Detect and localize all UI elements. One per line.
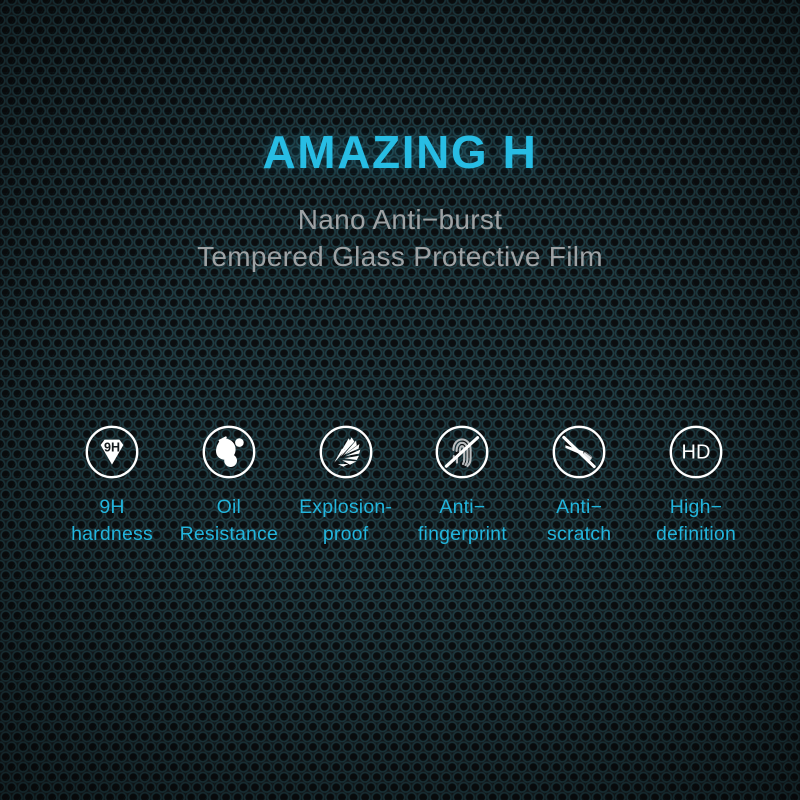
subtitle-line-1: Nano Anti−burst: [0, 202, 800, 239]
svg-text:HD: HD: [682, 442, 711, 464]
feature-label-anti-scratch: Anti− scratch: [547, 494, 611, 548]
feature-item-anti-scratch: Anti− scratch: [523, 424, 635, 548]
hd-icon: HD: [668, 424, 724, 480]
feature-label-oil-resistance: Oil Resistance: [180, 494, 278, 548]
feature-item-9h-hardness: 9H 9H hardness: [56, 424, 168, 548]
promo-banner: AMAZING H Nano Anti−burst Tempered Glass…: [0, 0, 800, 800]
oil-droplets-icon: [201, 424, 257, 480]
knife-blocked-icon: [551, 424, 607, 480]
banner-content: AMAZING H Nano Anti−burst Tempered Glass…: [0, 0, 800, 800]
headline-block: AMAZING H Nano Anti−burst Tempered Glass…: [0, 128, 800, 276]
svg-text:9H: 9H: [104, 440, 120, 454]
feature-item-high-definition: HD High− definition: [640, 424, 752, 548]
feature-label-high-definition: High− definition: [656, 494, 736, 548]
subtitle-line-2: Tempered Glass Protective Film: [0, 239, 800, 276]
9h-diamond-icon: 9H: [84, 424, 140, 480]
feature-label-anti-fingerprint: Anti− fingerprint: [418, 494, 507, 548]
feature-label-explosion-proof: Explosion- proof: [299, 494, 392, 548]
fingerprint-blocked-icon: [434, 424, 490, 480]
page-title: AMAZING H: [0, 128, 800, 176]
feature-list: 9H 9H hardness Oil Resistance: [56, 424, 752, 548]
feature-label-9h-hardness: 9H hardness: [71, 494, 153, 548]
feature-item-oil-resistance: Oil Resistance: [173, 424, 285, 548]
feature-item-anti-fingerprint: Anti− fingerprint: [406, 424, 518, 548]
subtitle: Nano Anti−burst Tempered Glass Protectiv…: [0, 202, 800, 276]
shattering-glass-icon: [318, 424, 374, 480]
feature-item-explosion-proof: Explosion- proof: [290, 424, 402, 548]
